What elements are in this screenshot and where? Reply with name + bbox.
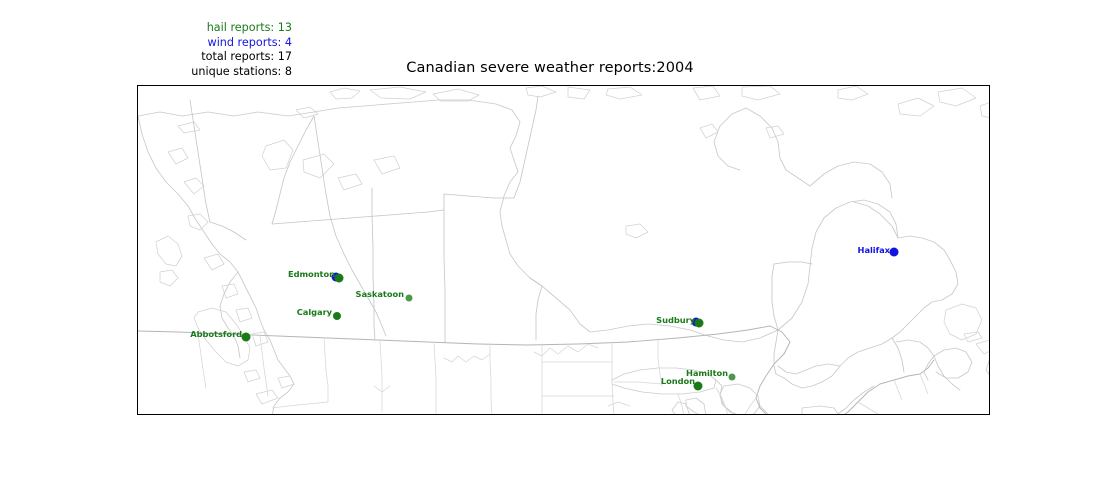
- legend-total-reports: total reports: 17: [140, 50, 292, 65]
- hail-report-dot: [335, 274, 344, 283]
- legend-hail-reports: hail reports: 13: [140, 21, 292, 36]
- map-axes[interactable]: AbbotsfordEdmontonCalgarySaskatoonSudbur…: [137, 85, 990, 415]
- station-label: Calgary: [297, 307, 332, 317]
- hail-report-dot: [406, 295, 413, 302]
- station-label: Edmonton: [288, 269, 335, 279]
- station-label: Abbotsford: [190, 329, 242, 339]
- hail-report-dot: [242, 333, 251, 342]
- hail-report-dot: [695, 319, 704, 328]
- figure-canvas: Canadian severe weather reports:2004: [0, 0, 1100, 500]
- station-label: Saskatoon: [356, 289, 404, 299]
- legend: hail reports: 13 wind reports: 4 total r…: [140, 21, 292, 79]
- wind-report-dot: [890, 248, 899, 257]
- station-label: Sudbury: [656, 315, 695, 325]
- hail-report-dot: [333, 312, 341, 320]
- station-label: London: [661, 376, 695, 386]
- legend-unique-stations: unique stations: 8: [140, 65, 292, 80]
- hail-report-dot: [729, 374, 736, 381]
- legend-wind-reports: wind reports: 4: [140, 36, 292, 51]
- station-label: Halifax: [858, 245, 890, 255]
